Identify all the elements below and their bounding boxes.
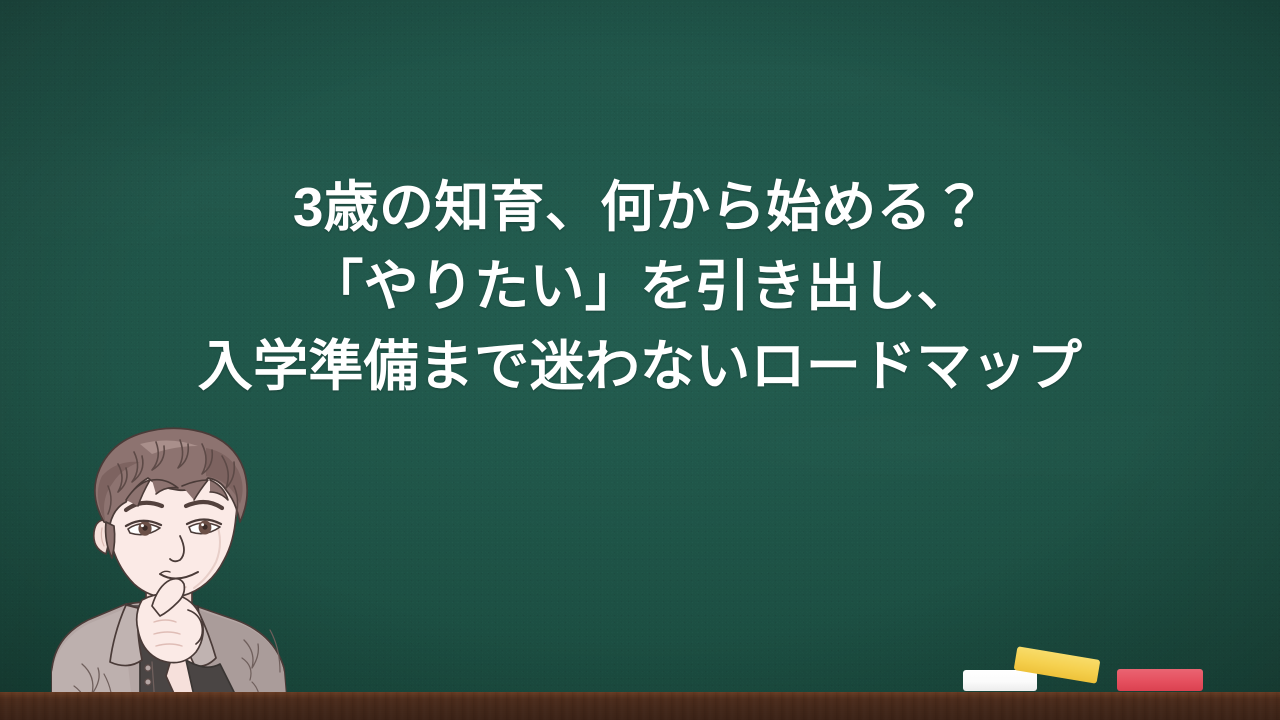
chalk-ledge [0, 692, 1280, 720]
red-chalk [1117, 669, 1203, 691]
white-chalk [963, 670, 1037, 691]
thinking-man-illustration [30, 424, 330, 720]
chalkboard-slide: 3歳の知育、何から始める？ 「やりたい」を引き出し、 入学準備まで迷わないロード… [0, 0, 1280, 720]
